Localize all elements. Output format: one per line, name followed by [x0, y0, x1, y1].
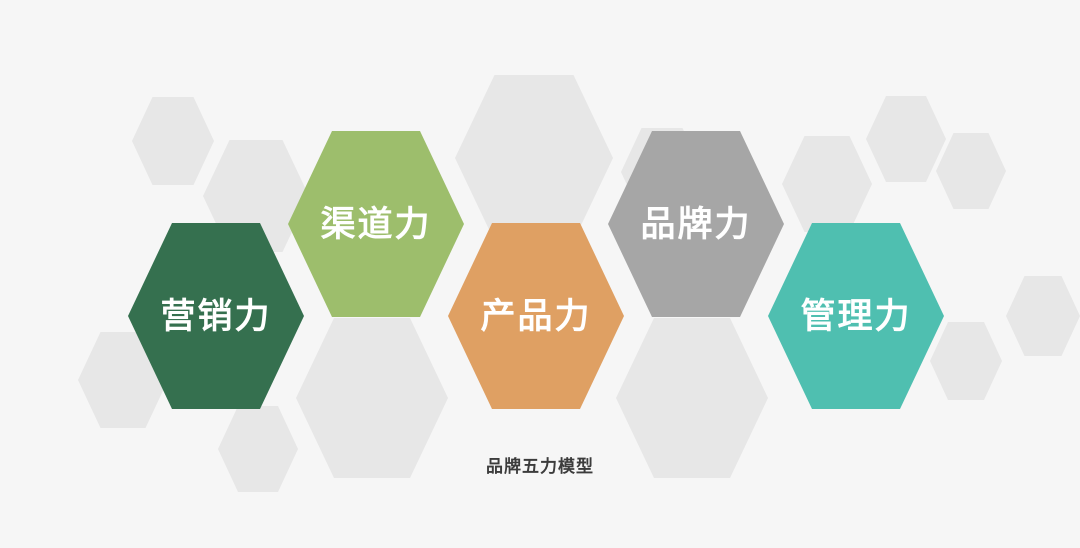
diagram-caption: 品牌五力模型: [0, 452, 1080, 477]
hexagon-label-brand: 品牌力: [640, 207, 751, 242]
hexagon-label-marketing: 营销力: [160, 299, 271, 334]
hexagon-node-channel[interactable]: 渠道力: [288, 131, 464, 317]
hexagon-label-channel: 渠道力: [320, 207, 431, 242]
hexagon-label-product: 产品力: [480, 299, 591, 334]
hexagon-node-product[interactable]: 产品力: [448, 223, 624, 409]
hexagon-node-management[interactable]: 管理力: [768, 223, 944, 409]
hexagon-label-management: 管理力: [800, 299, 911, 334]
hexagon-node-brand[interactable]: 品牌力: [608, 131, 784, 317]
hexagon-node-marketing[interactable]: 营销力: [128, 223, 304, 409]
brand-five-forces-diagram: 营销力渠道力产品力品牌力管理力 品牌五力模型: [0, 0, 1080, 548]
